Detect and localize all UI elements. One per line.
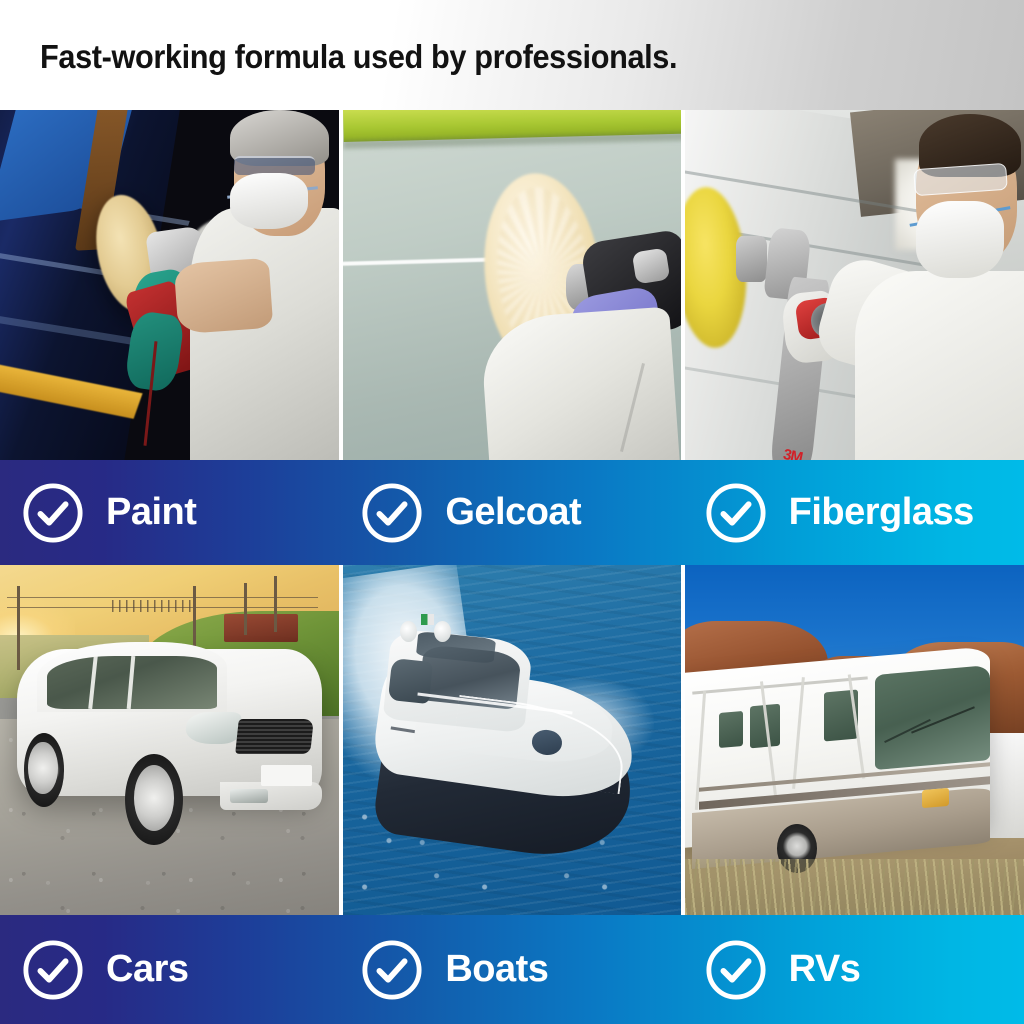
- feature-item-boats: Boats: [341, 939, 680, 1001]
- utility-pole: [274, 576, 277, 632]
- desert-brush: [685, 859, 1024, 915]
- photo-paint-polishing: [0, 110, 339, 460]
- photo-motor-yacht: [343, 565, 682, 915]
- radar-dome: [434, 621, 451, 642]
- photo-fiberglass-polishing: 3M: [685, 110, 1024, 460]
- feature-item-rvs: RVs: [681, 939, 1024, 1001]
- power-line: [7, 597, 319, 598]
- check-circle-icon: [705, 939, 767, 1001]
- car-grille: [235, 719, 313, 754]
- label-band-surfaces: Paint Gelcoat Fiberglass: [0, 460, 1024, 565]
- respirator-mask: [230, 173, 308, 229]
- feature-label-fiberglass: Fiberglass: [789, 491, 974, 534]
- motorhome-headlight: [922, 788, 949, 808]
- respirator-mask: [916, 201, 1004, 278]
- header-banner: Fast-working formula used by professiona…: [0, 0, 1024, 110]
- check-circle-icon: [361, 939, 423, 1001]
- red-railcar: [224, 614, 299, 642]
- white-coveralls: [190, 208, 339, 460]
- forearm: [174, 257, 273, 333]
- white-coveralls: [855, 271, 1024, 460]
- brand-logo-3m: 3M: [782, 446, 804, 460]
- feature-label-gelcoat: Gelcoat: [445, 491, 581, 534]
- car-headlight: [184, 712, 243, 744]
- photo-gelcoat-buffing: [343, 110, 682, 460]
- motorhome-side-window: [719, 711, 743, 748]
- utility-pole: [17, 586, 20, 670]
- pad-backing-plate: [736, 236, 766, 282]
- yacht-flag: [421, 614, 435, 625]
- utility-pole: [244, 583, 247, 636]
- feature-label-rvs: RVs: [789, 948, 861, 991]
- license-plate: [261, 765, 312, 786]
- feature-item-cars: Cars: [0, 939, 341, 1001]
- infographic-page: Fast-working formula used by professiona…: [0, 0, 1024, 1024]
- check-circle-icon: [22, 482, 84, 544]
- page-title: Fast-working formula used by professiona…: [40, 38, 677, 76]
- car-front-rim: [134, 765, 175, 832]
- car-rear-rim: [28, 742, 57, 795]
- feature-item-gelcoat: Gelcoat: [341, 482, 680, 544]
- photo-row-surfaces: 3M: [0, 110, 1024, 460]
- check-circle-icon: [361, 482, 423, 544]
- catenary-mast-row: [112, 600, 193, 612]
- check-circle-icon: [705, 482, 767, 544]
- feature-item-paint: Paint: [0, 482, 341, 544]
- polisher-highlight: [632, 248, 670, 284]
- car-foglight: [230, 789, 267, 803]
- feature-label-boats: Boats: [445, 948, 548, 991]
- photo-motorhome: [685, 565, 1024, 915]
- check-circle-icon: [22, 939, 84, 1001]
- photo-row-vehicles: [0, 565, 1024, 915]
- motorhome-windshield: [875, 665, 990, 770]
- feature-label-paint: Paint: [106, 491, 196, 534]
- utility-pole: [193, 586, 196, 646]
- feature-label-cars: Cars: [106, 948, 189, 991]
- feature-item-fiberglass: Fiberglass: [681, 482, 1024, 544]
- label-band-vehicles: Cars Boats RVs: [0, 915, 1024, 1024]
- photo-white-sedan: [0, 565, 339, 915]
